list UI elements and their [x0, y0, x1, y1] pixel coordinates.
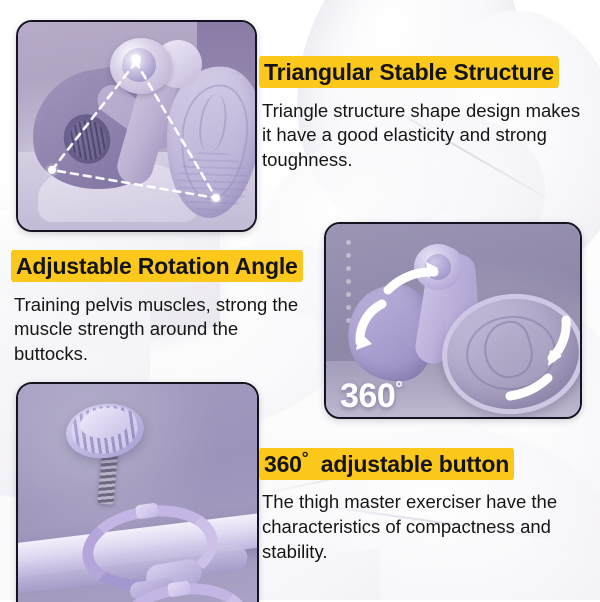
- feature-headline-wrap: Adjustable Rotation Angle: [14, 250, 314, 283]
- triangle-vertex-dot: [48, 166, 56, 174]
- headline-button-text: adjustable button: [321, 451, 509, 477]
- feature-block-rotation: Adjustable Rotation Angle Training pelvi…: [14, 250, 314, 366]
- thigh-master-rotation-photo: 360°: [324, 222, 582, 419]
- feature-headline-triangle: Triangular Stable Structure: [262, 58, 556, 86]
- rotation-degree-value: 360: [340, 377, 395, 415]
- triangle-vertex-dot: [212, 194, 220, 202]
- triangle-vertex-dot: [132, 58, 140, 66]
- feature-headline-wrap: 360° adjustable button: [262, 446, 594, 480]
- feature-headline-rotation: Adjustable Rotation Angle: [14, 252, 300, 280]
- adjustable-knob-exploded-photo: [16, 382, 259, 602]
- headline-degree-number: 360: [264, 451, 302, 477]
- feature-body-button: The thigh master exerciser have the char…: [262, 490, 594, 564]
- feature-body-rotation: Training pelvis muscles, strong the musc…: [14, 293, 314, 367]
- thigh-master-triangle-photo: [16, 20, 257, 232]
- headline-rest-text: [308, 451, 320, 477]
- feature-block-button: 360° adjustable button The thigh master …: [262, 446, 594, 564]
- degree-symbol: °: [395, 379, 402, 400]
- feature-block-triangle: Triangular Stable Structure Triangle str…: [262, 56, 592, 172]
- feature-headline-wrap: Triangular Stable Structure: [262, 56, 592, 89]
- feature-body-triangle: Triangle structure shape design makes it…: [262, 99, 592, 173]
- feature-headline-button: 360° adjustable button: [262, 450, 511, 478]
- rotation-degree-label: 360°: [340, 379, 402, 413]
